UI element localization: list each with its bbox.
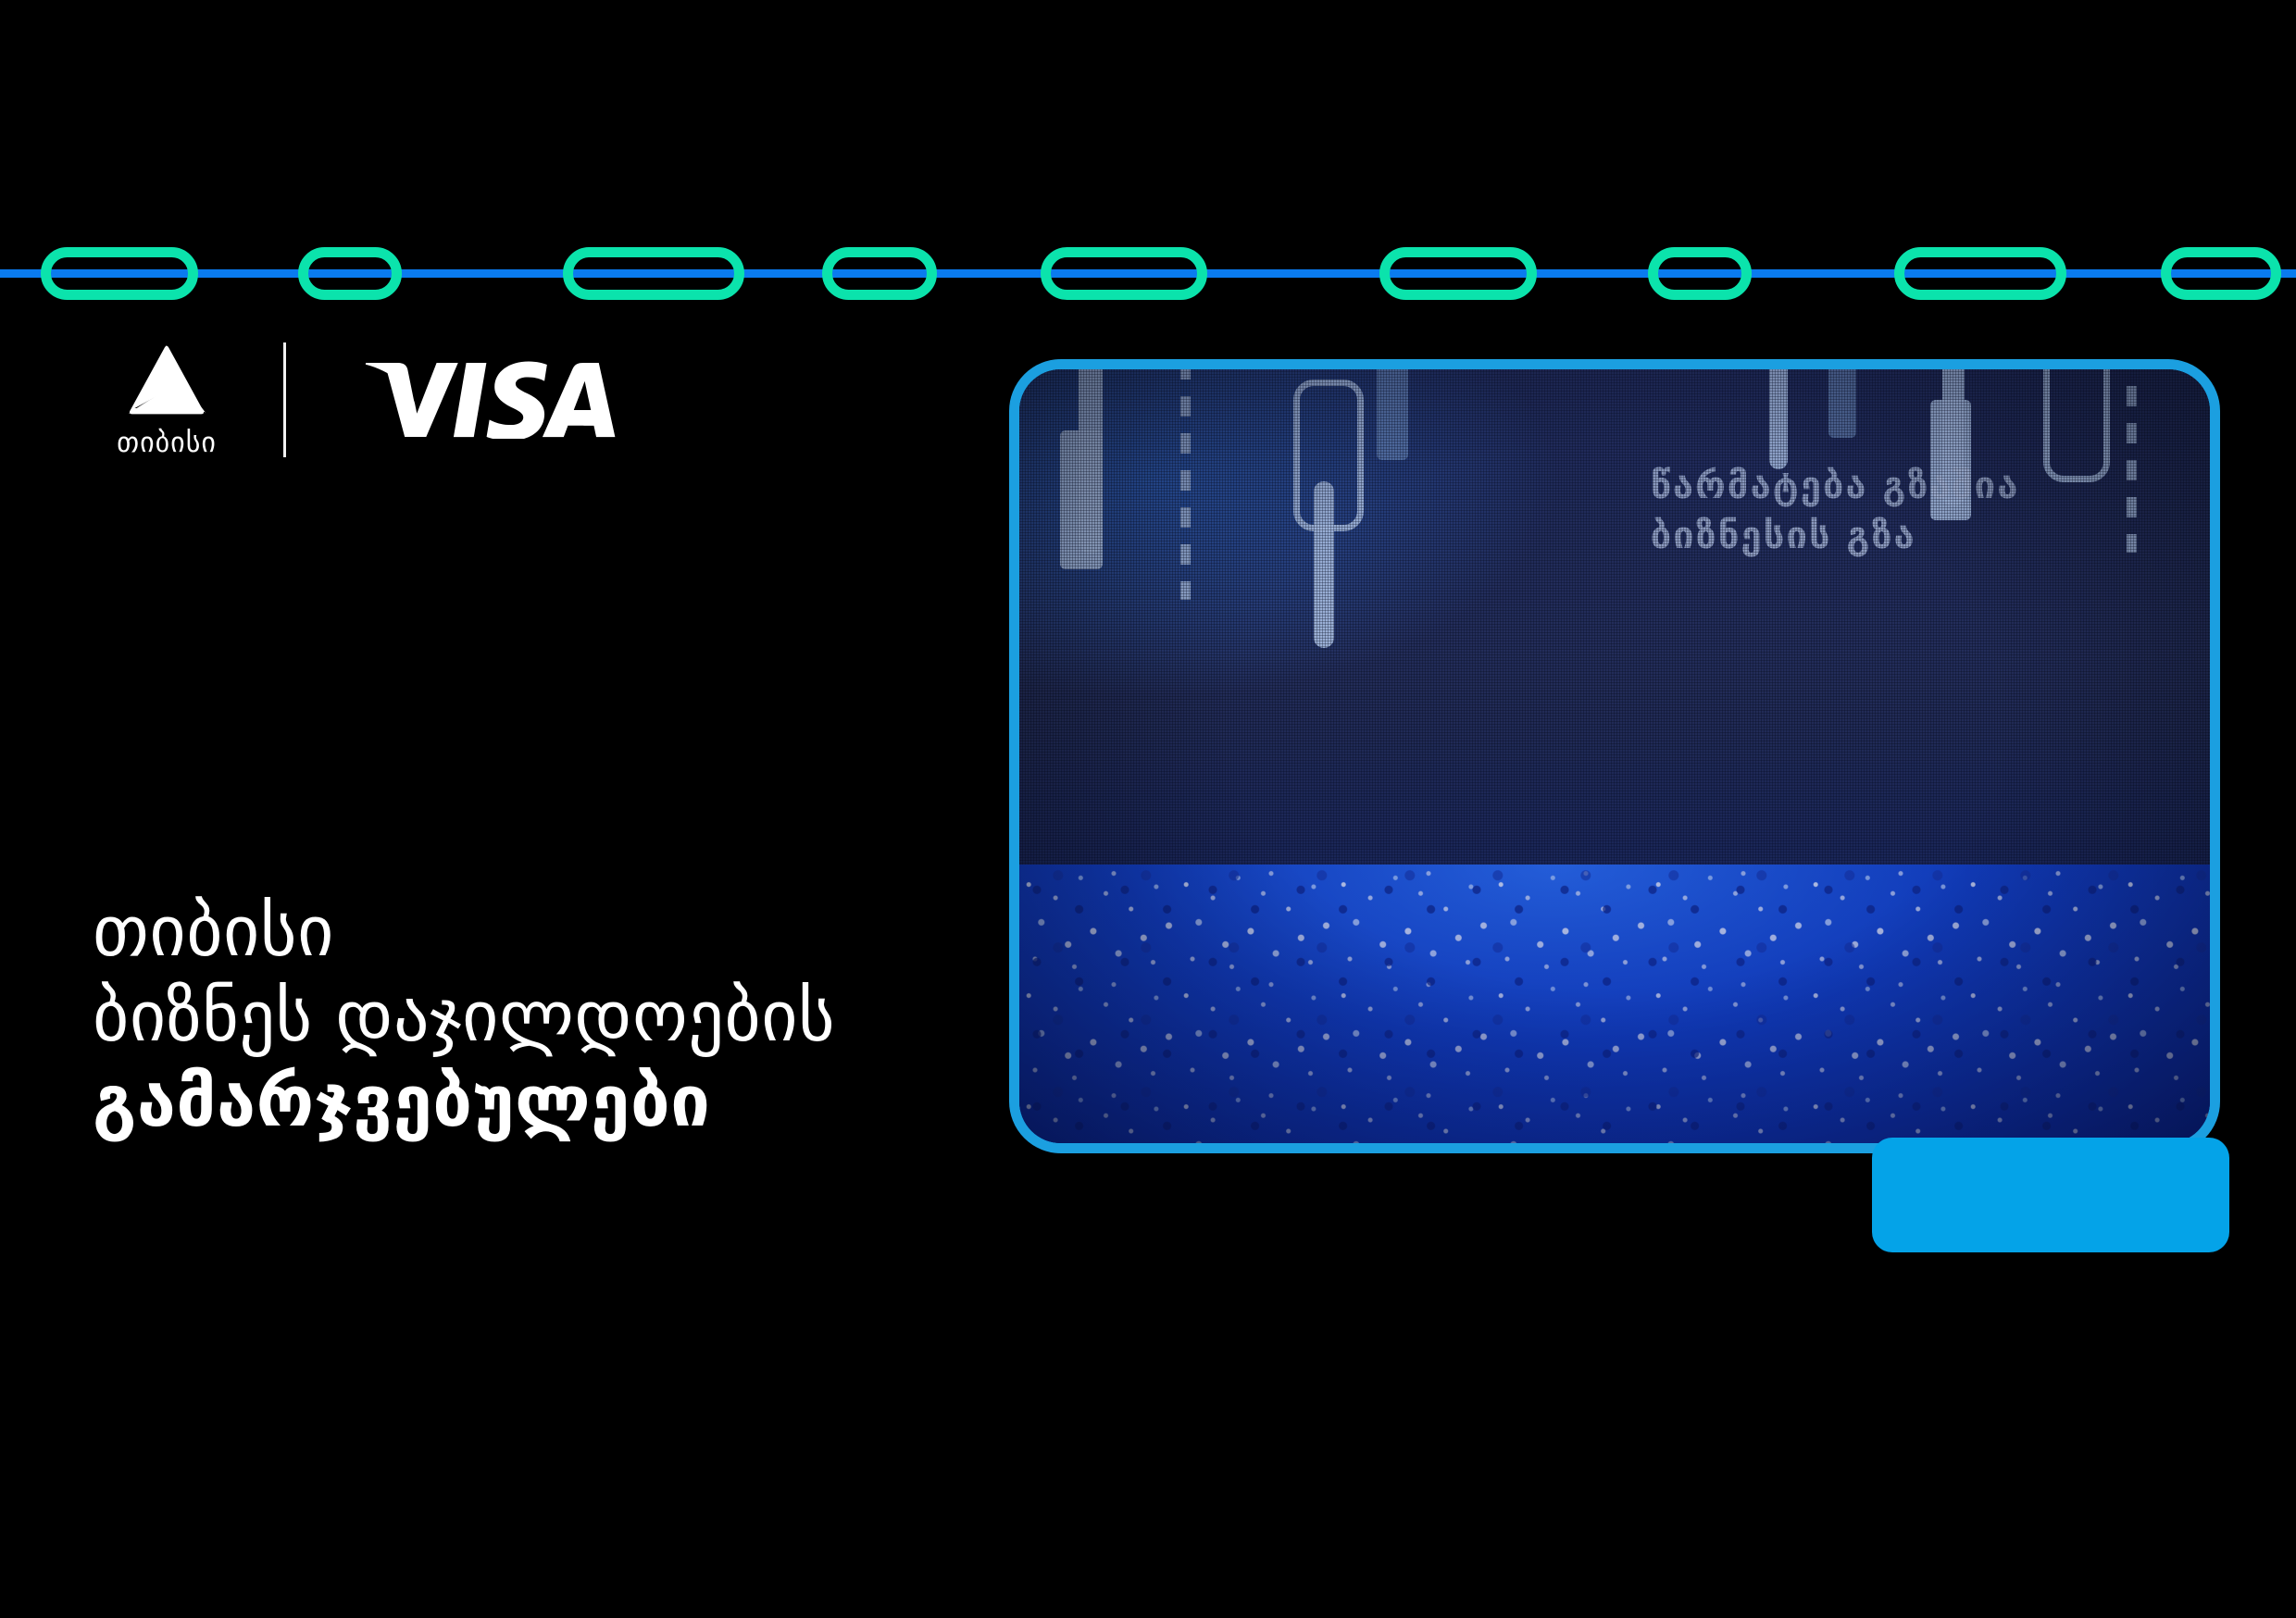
chain-link — [1894, 247, 2066, 300]
tbc-wordmark: თიბისი — [117, 429, 217, 457]
led-pin-icon — [1769, 369, 1788, 469]
year-dotmatrix-text — [1912, 1161, 2190, 1229]
led-bar — [1930, 400, 1971, 520]
year-badge — [1872, 1138, 2229, 1252]
event-photo-card: წარმატება გზაშია ბიზნესის გზა — [1009, 359, 2220, 1153]
chain-link — [563, 247, 744, 300]
chain-link — [1379, 247, 1537, 300]
tbc-logo: თიბისი — [104, 343, 230, 457]
brand-divider — [283, 342, 286, 457]
headline-line-3: გამარჯვებულები — [93, 1059, 835, 1144]
chain-link — [2161, 247, 2281, 300]
tbc-triangle-icon — [124, 343, 209, 417]
headline-line-1: თიბისი — [93, 889, 835, 974]
chain-link — [1041, 247, 1207, 300]
event-photo: წარმატება გზაშია ბიზნესის გზა — [1019, 369, 2210, 1143]
poster-canvas: თიბისი თიბისი ბიზნეს დაჯილდოების გამარჯვ… — [0, 0, 2296, 1618]
chain-link — [41, 247, 198, 300]
led-pin-icon — [1942, 369, 1965, 506]
led-bar — [1828, 369, 1856, 438]
led-link-ring-icon — [2043, 369, 2110, 482]
chain-decoration-top — [0, 236, 2296, 310]
award-winners-group — [1019, 517, 2210, 1012]
headline-line-2: ბიზნეს დაჯილდოების — [93, 974, 835, 1059]
page-title: თიბისი ბიზნეს დაჯილდოების გამარჯვებულები — [93, 889, 835, 1144]
chain-link — [298, 247, 402, 300]
brand-lockup: თიბისი — [104, 339, 623, 461]
led-screen-text-line-1: წარმატება გზაშია — [1651, 461, 2151, 511]
led-bar — [1377, 369, 1408, 460]
led-link-ring-icon — [1293, 380, 1364, 531]
chain-link — [822, 247, 937, 300]
chain-link — [1648, 247, 1752, 300]
visa-logo-icon — [336, 361, 623, 439]
